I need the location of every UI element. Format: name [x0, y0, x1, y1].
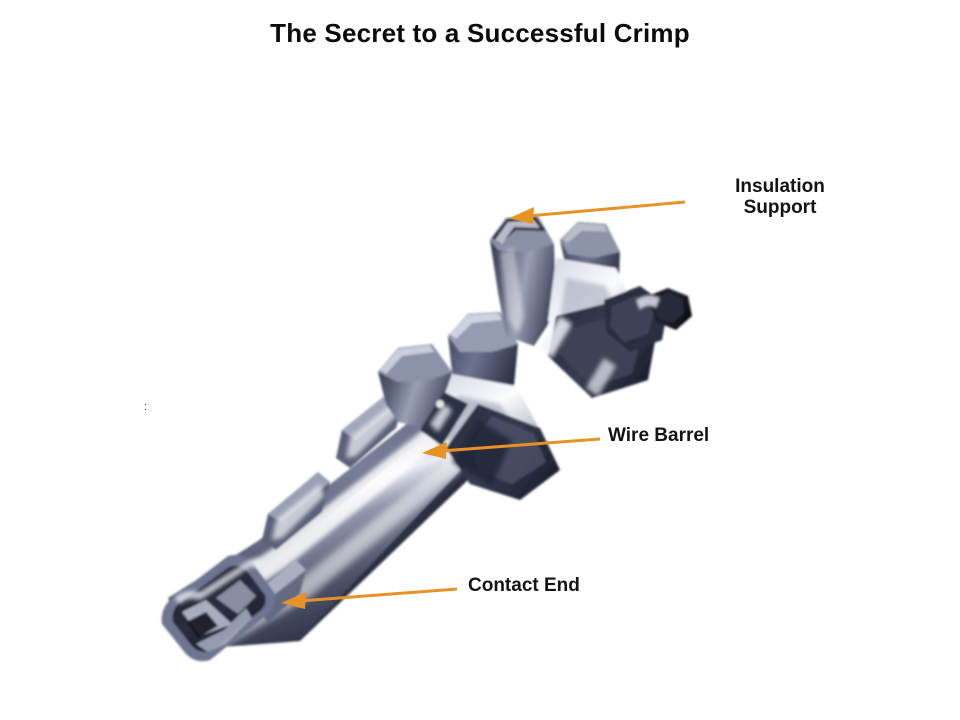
slide-canvas: The Secret to a Successful Crimp	[0, 0, 960, 720]
arrow-insulation-support-shaft	[528, 202, 685, 216]
crimp-terminal-figure	[0, 0, 960, 720]
callout-label-contact-end: Contact End	[468, 576, 580, 597]
contact-end-mouth	[162, 555, 275, 661]
wire-barrel-rivet	[436, 400, 444, 408]
callout-label-wire-barrel: Wire Barrel	[608, 426, 709, 447]
stray-mark: :	[144, 404, 147, 418]
callout-label-insulation-support: Insulation Support	[705, 177, 855, 218]
